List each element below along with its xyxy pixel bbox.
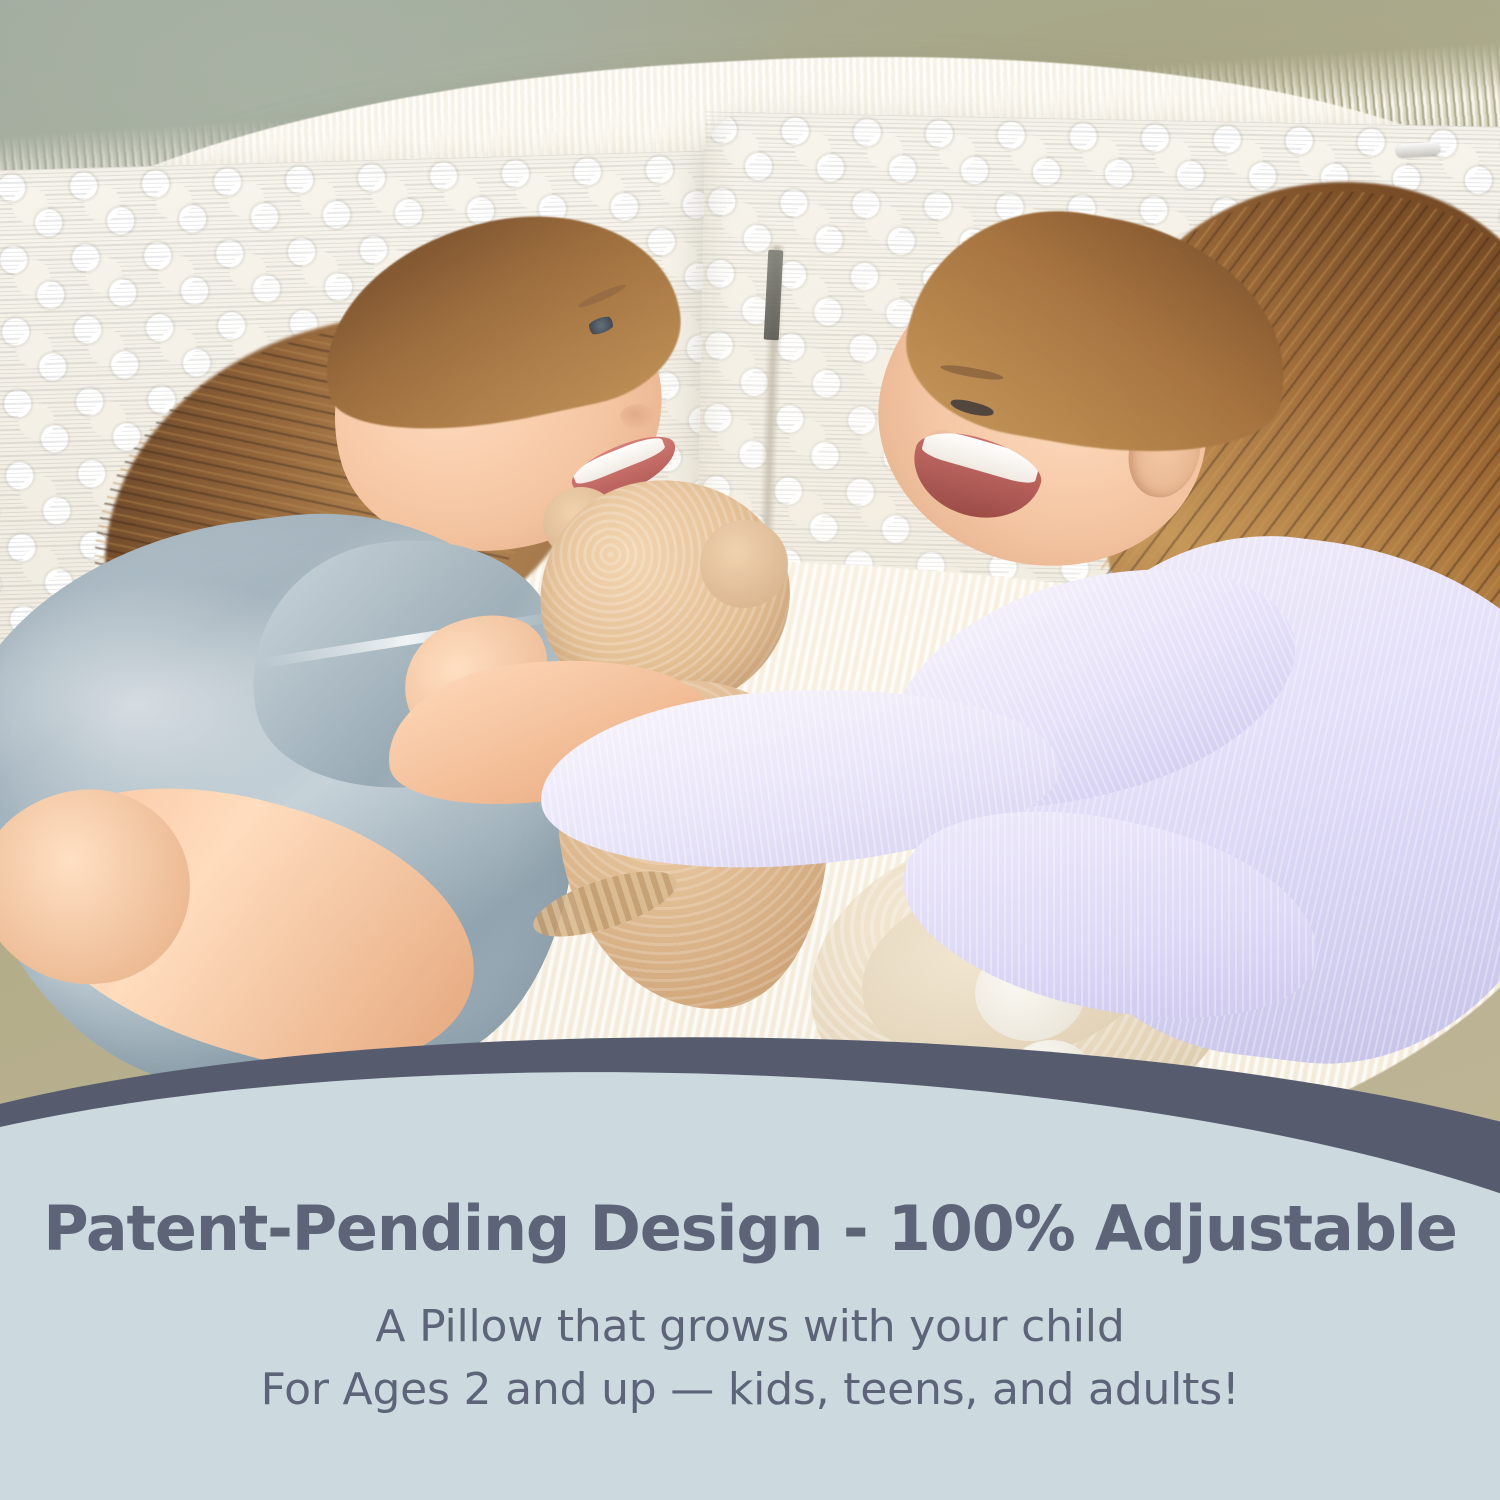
hero-photo <box>0 0 1500 1130</box>
teddy-bear-ear-near <box>700 520 788 608</box>
banner-shape <box>0 1000 1500 1500</box>
girl-left-nose <box>620 404 656 430</box>
banner-panel <box>0 1072 1500 1500</box>
product-infographic: Patent-Pending Design - 100% Adjustable … <box>0 0 1500 1500</box>
marketing-banner: Patent-Pending Design - 100% Adjustable … <box>0 1000 1500 1500</box>
